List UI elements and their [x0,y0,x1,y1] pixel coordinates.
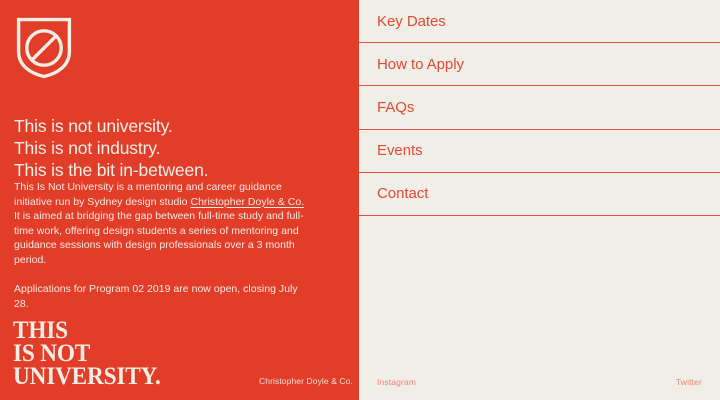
intro-text-after-link: It is aimed at bridging the gap between … [14,210,304,266]
studio-link[interactable]: Christopher Doyle & Co. [190,196,304,208]
intro-body-copy: This Is Not University is a mentoring an… [14,180,310,311]
intro-paragraph: This Is Not University is a mentoring an… [14,180,310,268]
nav-item-label: Events [377,143,423,158]
wordmark-line-3: UNIVERSITY. [13,365,161,388]
headline-line-2: This is not industry. [14,137,344,159]
nav-item-key-dates[interactable]: Key Dates [359,0,720,43]
nav-item-faqs[interactable]: FAQs [359,86,720,129]
landing-page: This is not university. This is not indu… [0,0,720,400]
wordmark-logo: THIS IS NOT UNIVERSITY. [13,319,172,388]
headline-line-1: This is not university. [14,115,344,137]
nav-item-label: Key Dates [377,14,446,29]
applications-paragraph: Applications for Program 02 2019 are now… [14,282,310,311]
headline-line-3: This is the bit in-between. [14,159,344,181]
instagram-link[interactable]: Instagram [377,377,416,387]
left-red-panel: This is not university. This is not indu… [0,0,359,400]
twitter-link[interactable]: Twitter [676,377,702,387]
nav-item-label: Contact [377,186,428,201]
nav-item-label: How to Apply [377,57,464,72]
wordmark-line-2: IS NOT [13,342,161,365]
nav-item-contact[interactable]: Contact [359,173,720,216]
wordmark-line-1: THIS [13,319,161,342]
shield-prohibition-icon[interactable] [16,17,72,79]
nav-item-label: FAQs [377,100,414,115]
social-links-row: Instagram Twitter [377,377,702,387]
main-nav: Key Dates How to Apply FAQs Events Conta… [359,0,720,216]
nav-item-how-to-apply[interactable]: How to Apply [359,43,720,86]
right-nav-panel: Key Dates How to Apply FAQs Events Conta… [359,0,720,400]
studio-credit[interactable]: Christopher Doyle & Co. [259,376,353,386]
nav-item-events[interactable]: Events [359,130,720,173]
page-headline: This is not university. This is not indu… [14,115,344,181]
